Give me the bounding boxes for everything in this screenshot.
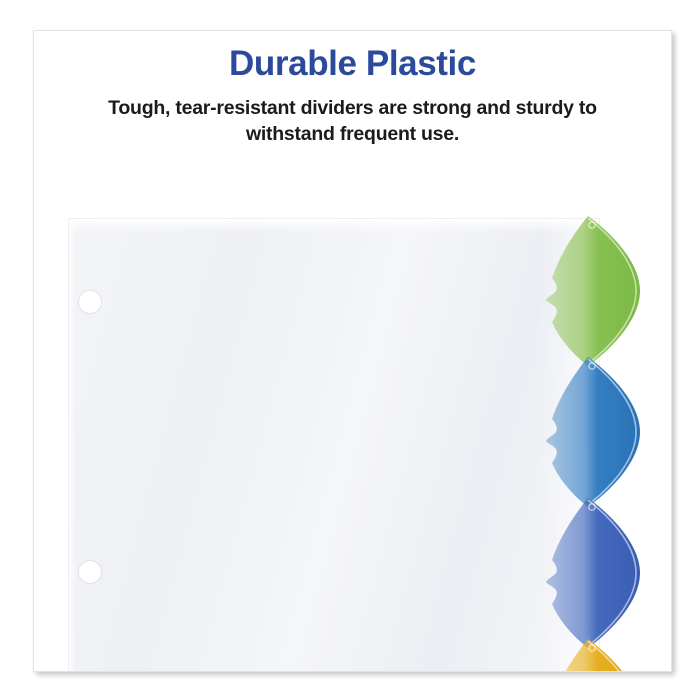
page-title: Durable Plastic (34, 45, 671, 84)
divider-sheet (69, 219, 599, 671)
product-photo (34, 181, 671, 671)
page-subtitle: Tough, tear-resistant dividers are stron… (73, 95, 633, 148)
punch-hole-top (79, 291, 101, 313)
headline-block: Durable Plastic Tough, tear-resistant di… (34, 45, 671, 147)
orange-tab[interactable] (522, 639, 654, 671)
blue-tab[interactable] (522, 357, 654, 507)
orange-tab-shape (546, 639, 640, 671)
sheet-left-edge (69, 219, 76, 671)
punch-hole-bottom (79, 561, 101, 583)
green-tab[interactable] (522, 216, 654, 366)
blue-tab-shape (546, 357, 640, 507)
navy-tab-shape (546, 498, 640, 648)
product-image-card: Durable Plastic Tough, tear-resistant di… (33, 30, 672, 672)
green-tab-shape (546, 216, 640, 366)
screenshot-stage: Durable Plastic Tough, tear-resistant di… (0, 0, 700, 700)
sheet-top-highlight (69, 219, 599, 233)
navy-tab[interactable] (522, 498, 654, 648)
